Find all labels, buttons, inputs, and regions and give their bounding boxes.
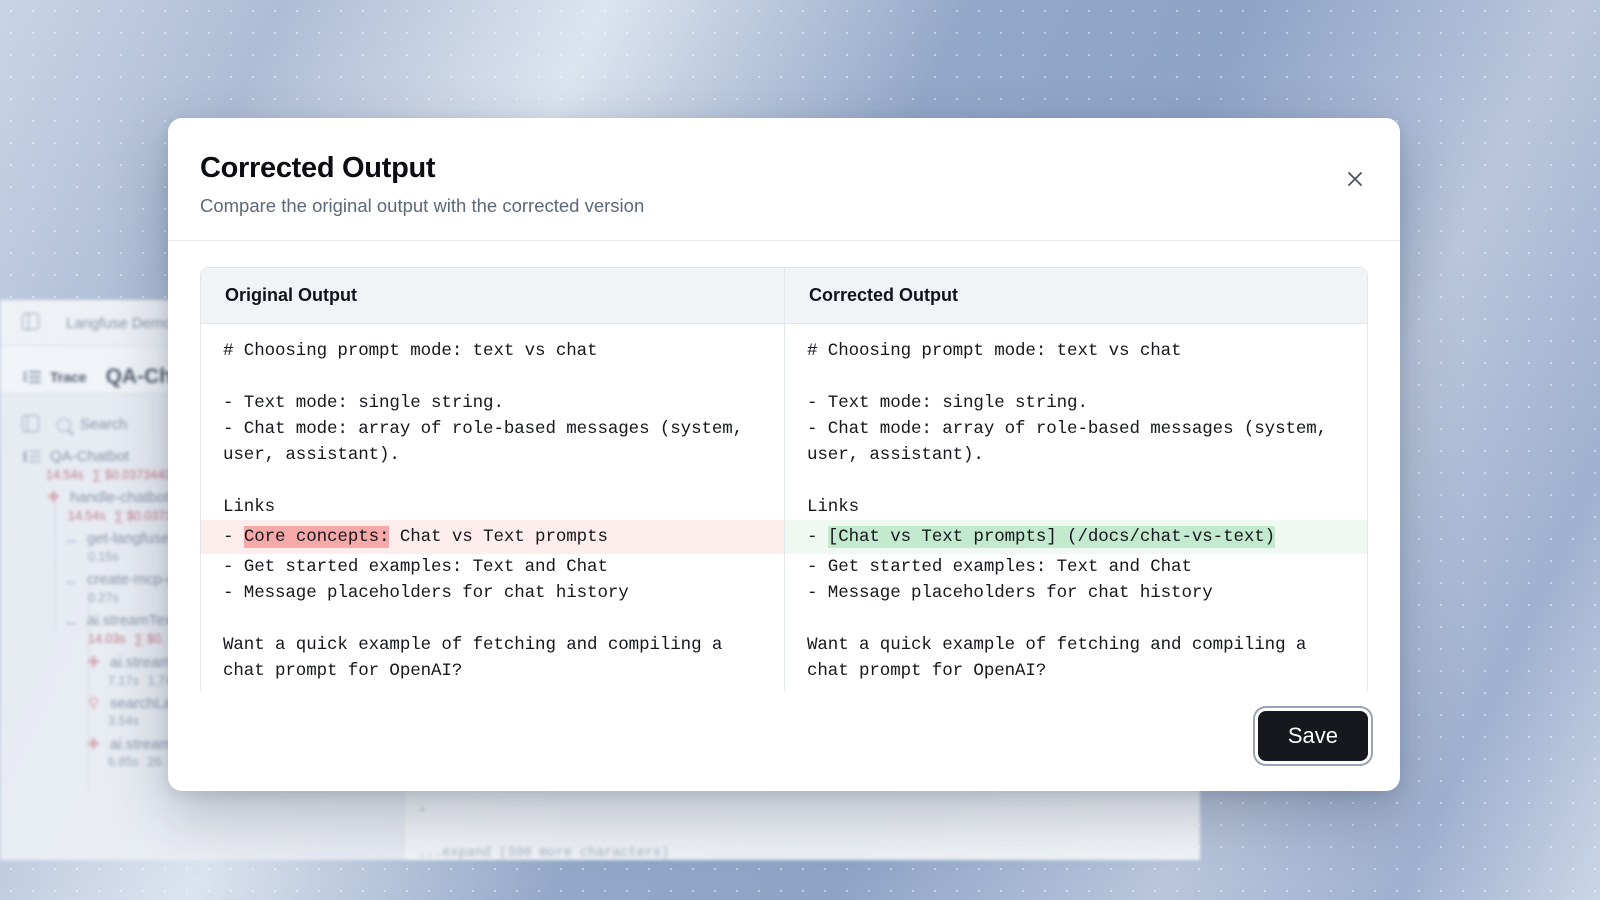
code-line: Links <box>201 494 784 520</box>
tree-item-meta: 14.03s ∑ $0. <box>88 632 164 646</box>
column-header-original: Original Output <box>201 268 784 323</box>
code-line: Want a quick example of fetching and com… <box>785 632 1367 684</box>
code-line: # Choosing prompt mode: text vs chat <box>785 338 1367 364</box>
diff-highlight: Core concepts: <box>244 526 390 548</box>
tree-item-meta: 0.15s <box>88 550 119 564</box>
tree-item[interactable]: ✚ ai.stream <box>86 654 172 671</box>
code-line: - <box>418 797 1188 824</box>
code-line-blank <box>418 824 1188 840</box>
code-line-blank <box>785 606 1367 632</box>
span-node-icon: ✚ <box>86 655 101 670</box>
code-line: - Text mode: single string. <box>785 390 1367 416</box>
tree-item[interactable]: ↔ ai.streamText <box>64 612 176 629</box>
save-button[interactable]: Save <box>1258 711 1368 761</box>
diff-table: Original Output Corrected Output # Choos… <box>200 267 1368 691</box>
tree-item[interactable]: ⚲ searchLan <box>86 695 180 712</box>
code-line-blank <box>201 468 784 494</box>
code-line-blank <box>785 468 1367 494</box>
background-workspace-label: Langfuse Demo <box>66 315 172 332</box>
code-line: - Message placeholders for chat history <box>201 580 784 606</box>
tree-item-meta: 14.54s ∑ $0.0373 <box>68 509 172 523</box>
tree-item-meta: 6.85s 26 <box>108 755 162 769</box>
span-node-icon: ✚ <box>86 737 101 752</box>
code-line: Want a quick example of fetching and com… <box>201 632 784 684</box>
code-line-added: - [Chat vs Text prompts] (/docs/chat-vs-… <box>785 520 1367 554</box>
dialog-footer: Save <box>168 691 1400 791</box>
code-line: - Message placeholders for chat history <box>785 580 1367 606</box>
list-tree-icon <box>24 450 41 464</box>
diff-column-original: # Choosing prompt mode: text vs chat - T… <box>201 324 784 691</box>
tree-item-meta: 14.54s ∑ $0.0373440 <box>46 468 171 482</box>
tree-guide <box>55 492 56 632</box>
tree-item[interactable]: ✚ ai.stream <box>86 736 172 753</box>
close-button[interactable] <box>1340 164 1370 194</box>
search-icon <box>57 418 71 432</box>
dialog-body: Original Output Corrected Output # Choos… <box>168 241 1400 691</box>
corrected-output-dialog: Corrected Output Compare the original ou… <box>168 118 1400 791</box>
collapse-panel-icon <box>22 415 39 432</box>
code-line: - Chat mode: array of role-based message… <box>785 416 1367 468</box>
code-line: " <box>418 867 1188 894</box>
tree-item[interactable]: ✚ handle-chatbot-m <box>46 489 187 506</box>
code-line-blank <box>201 606 784 632</box>
background-collapse-button[interactable] <box>22 415 39 432</box>
diff-table-header-row: Original Output Corrected Output <box>201 268 1367 324</box>
expand-code-link[interactable]: ...expand (300 more characters) <box>418 840 1188 867</box>
diff-highlight: [Chat vs Text prompts] (/docs/chat-vs-te… <box>828 526 1275 548</box>
tree-item[interactable]: QA-Chatbot <box>24 448 129 465</box>
code-line-blank <box>785 364 1367 390</box>
code-line-blank <box>201 364 784 390</box>
code-line: # Choosing prompt mode: text vs chat <box>201 338 784 364</box>
code-line-removed: - Core concepts: Chat vs Text prompts <box>201 520 784 554</box>
background-search-input[interactable]: Search <box>57 416 128 433</box>
tree-item-meta: 0.27s <box>88 591 119 605</box>
span-arrow-icon: ↔ <box>64 613 78 629</box>
dialog-header: Corrected Output Compare the original ou… <box>168 118 1400 241</box>
tree-item[interactable]: ↔ create-mcp-c <box>64 571 175 588</box>
tree-item[interactable]: ↔ get-langfuse- <box>64 530 175 547</box>
code-line: - Text mode: single string. <box>201 390 784 416</box>
dialog-subtitle: Compare the original output with the cor… <box>200 194 1366 218</box>
code-line: Links <box>785 494 1367 520</box>
panel-icon <box>22 313 39 330</box>
background-sidebar-toggle[interactable] <box>22 313 39 330</box>
list-tree-icon <box>24 370 41 384</box>
span-node-icon: ✚ <box>46 490 61 505</box>
code-line: - Get started examples: Text and Chat <box>785 554 1367 580</box>
diff-column-corrected: # Choosing prompt mode: text vs chat - T… <box>784 324 1367 691</box>
column-header-corrected: Corrected Output <box>784 268 1367 323</box>
code-line: - Chat mode: array of role-based message… <box>201 416 784 468</box>
close-icon <box>1345 169 1365 189</box>
tool-node-icon: ⚲ <box>86 696 101 711</box>
diff-table-body: # Choosing prompt mode: text vs chat - T… <box>201 324 1367 691</box>
code-line: - Get started examples: Text and Chat <box>201 554 784 580</box>
tree-item-meta: 7.17s 1,74 <box>108 674 172 688</box>
page-title: Corrected Output <box>200 152 1366 186</box>
span-arrow-icon: ↔ <box>64 531 78 547</box>
span-arrow-icon: ↔ <box>64 572 78 588</box>
tree-item-meta: 3.54s <box>108 714 139 728</box>
